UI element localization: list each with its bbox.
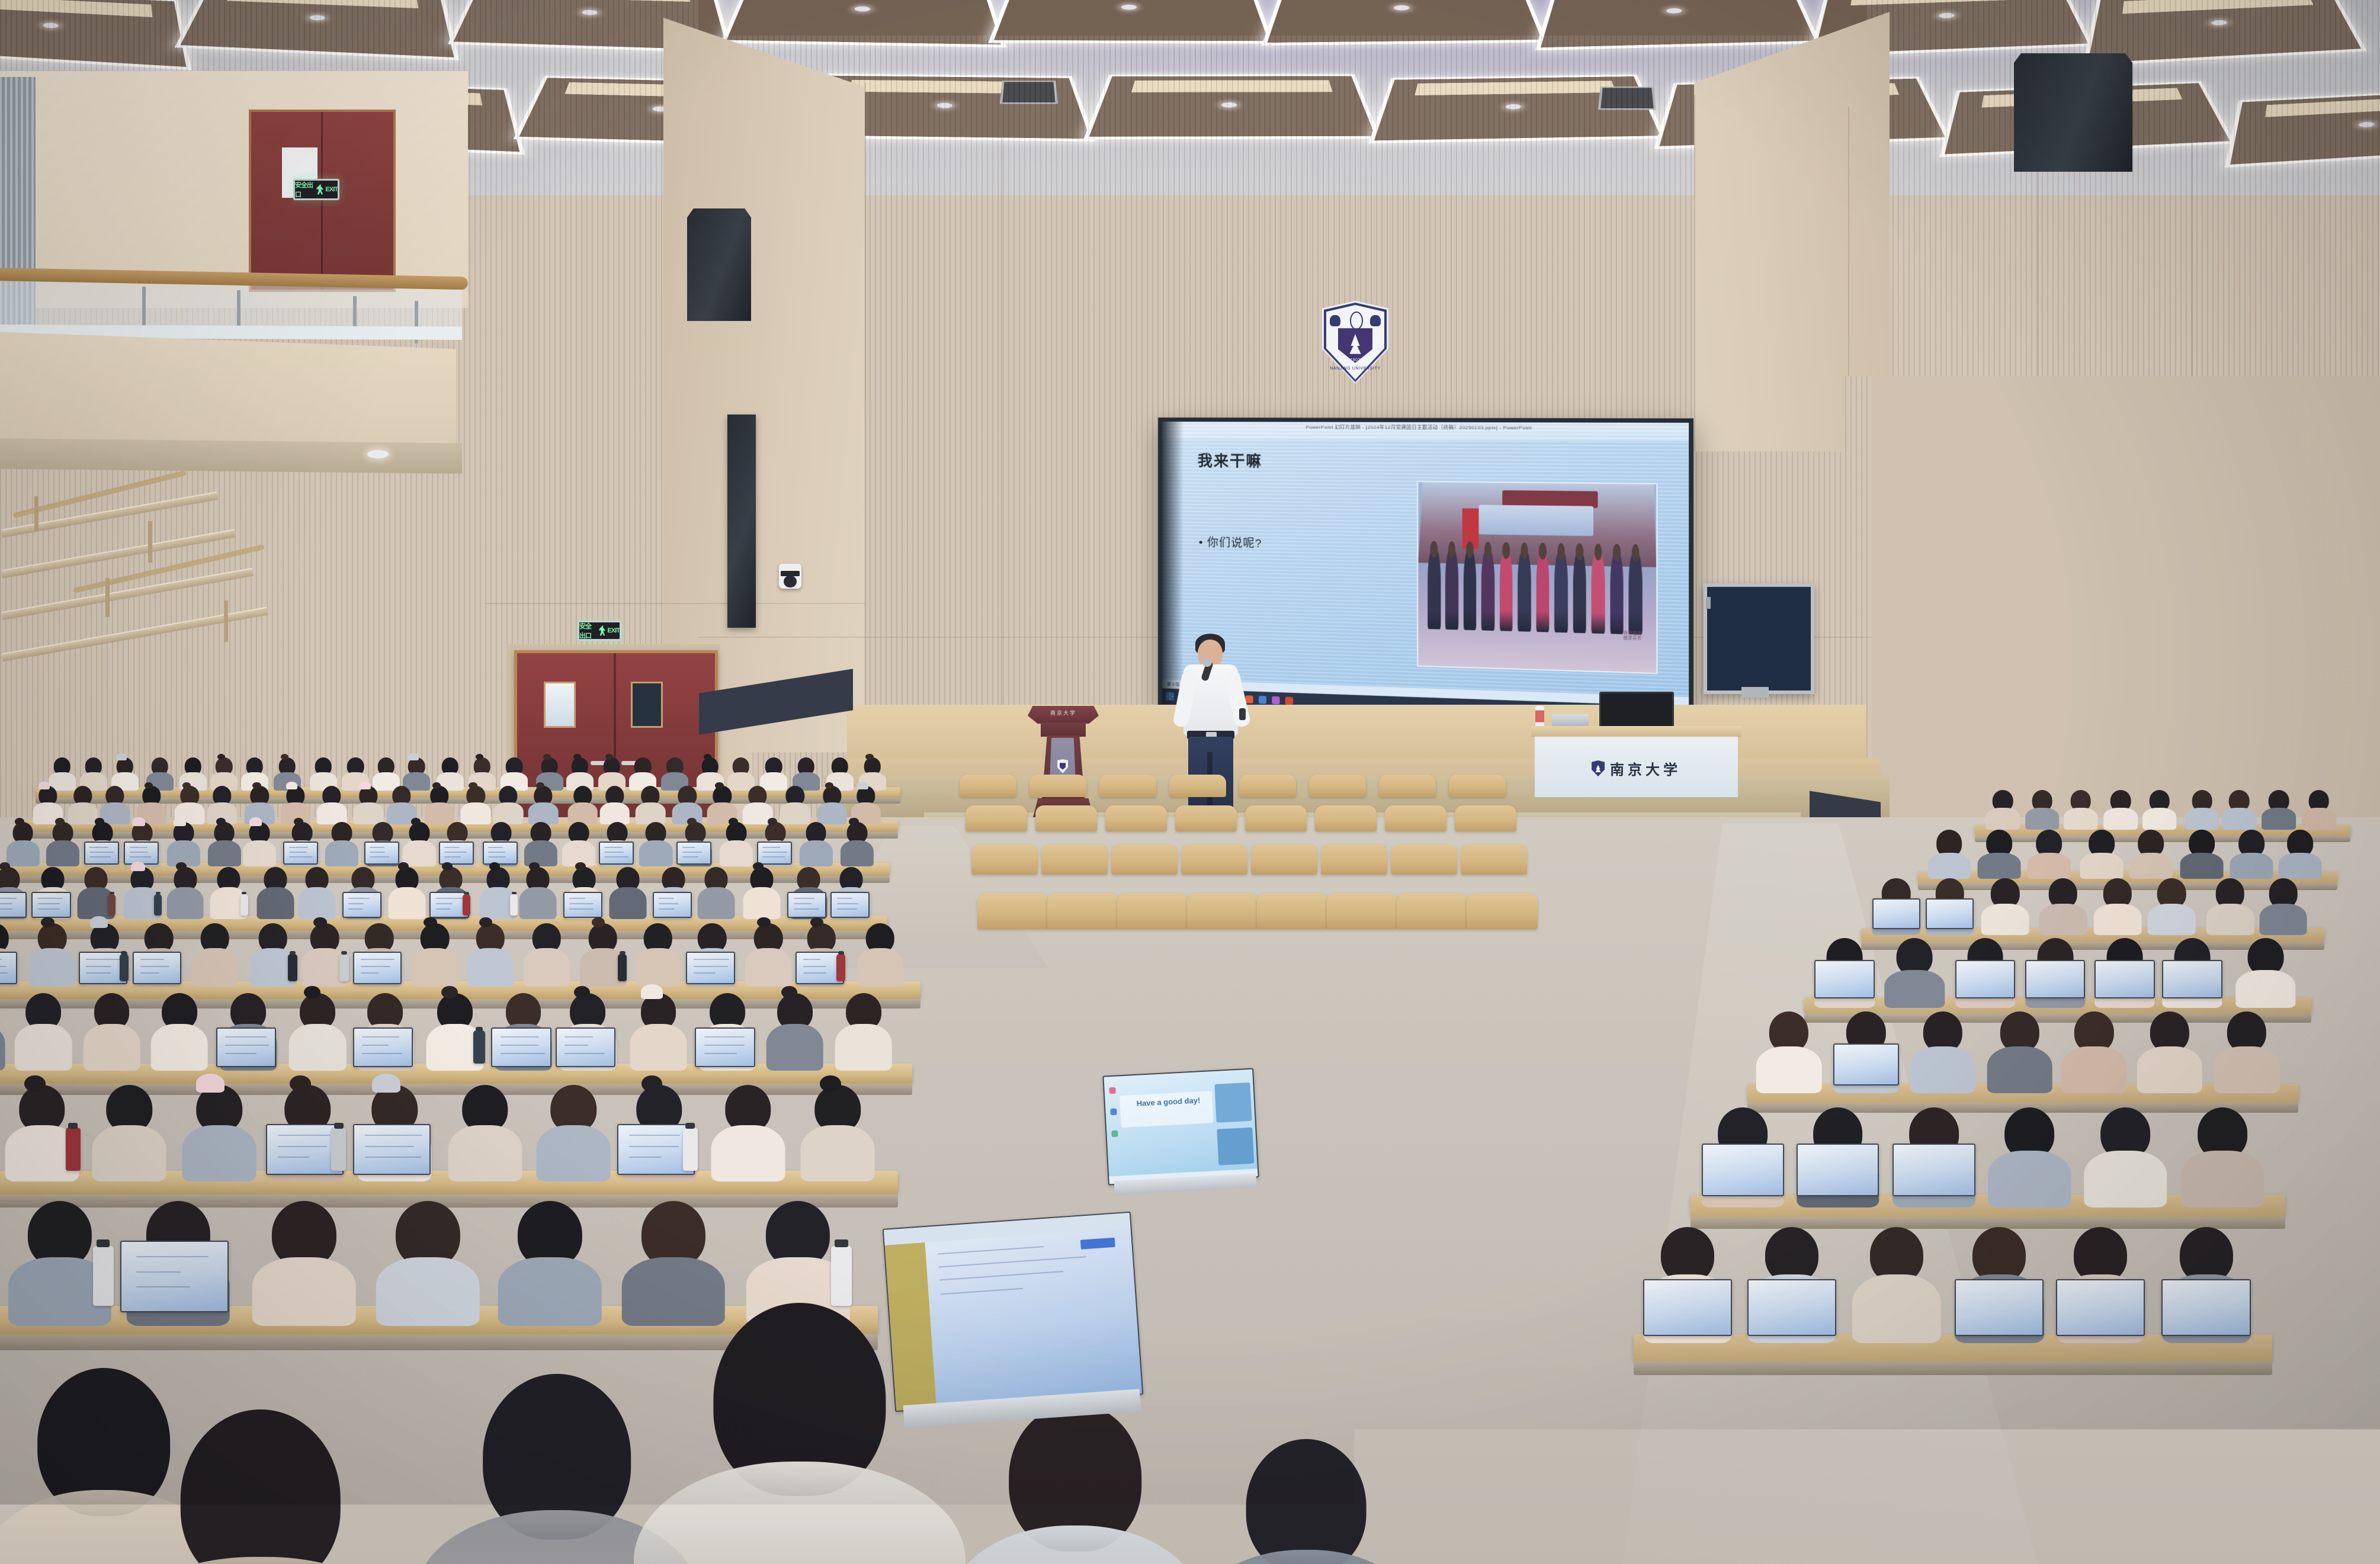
seat-back[interactable] [1047, 893, 1118, 929]
audience-hair-bun [757, 917, 770, 927]
audience-member [697, 757, 724, 783]
audience-torso [2080, 853, 2124, 879]
seat-back[interactable] [1327, 893, 1398, 929]
desktop-icon[interactable] [1109, 1087, 1116, 1094]
seat-back[interactable] [971, 844, 1038, 875]
seat-back[interactable] [1035, 805, 1097, 831]
thermos-bottle[interactable] [463, 894, 470, 916]
audience-member [672, 786, 703, 815]
seat-back[interactable] [1257, 893, 1328, 929]
student-laptop[interactable] [2056, 1279, 2145, 1336]
audience-member [376, 1201, 480, 1295]
audience-member [257, 867, 294, 910]
audience-member [1927, 830, 1971, 865]
cute-wallpaper-laptop[interactable]: Have a good day! [1102, 1068, 1259, 1185]
bottle-cap [464, 892, 469, 895]
student-laptop[interactable] [483, 842, 518, 865]
seat-back[interactable] [1397, 893, 1468, 929]
control-desk-laptop[interactable] [1552, 714, 1589, 726]
audience-torso [182, 1125, 256, 1182]
audience-member [562, 822, 595, 858]
laptop-screen[interactable] [353, 1027, 413, 1067]
student-laptop[interactable] [787, 892, 826, 918]
audience-hair-bun [41, 917, 54, 927]
student-laptop[interactable] [133, 952, 181, 984]
student-laptop[interactable] [653, 892, 692, 918]
screen-text-line [89, 856, 111, 858]
control-desk-top [1531, 726, 1741, 737]
screen-text-line [444, 847, 460, 848]
audience-torso [567, 802, 598, 824]
security-camera-left [779, 564, 801, 589]
screen-text-line [140, 966, 169, 967]
screen-text-line [501, 1045, 539, 1046]
side-display-monitor [1704, 583, 1814, 694]
audience-torso [166, 887, 204, 919]
audience-torso [1852, 1274, 1941, 1343]
screen-text-line [0, 898, 17, 899]
lectern-neck [1041, 722, 1086, 737]
laptop-screen[interactable] [563, 892, 602, 918]
laptop-screen[interactable] [1814, 960, 1874, 998]
seat-back[interactable] [1117, 893, 1188, 929]
laptop-screen[interactable] [1872, 898, 1920, 929]
audience-member [469, 757, 496, 783]
audience-torso [354, 802, 384, 824]
balcony-door[interactable] [249, 110, 396, 292]
laptop-screen[interactable] [2025, 960, 2085, 998]
student-laptop[interactable] [283, 842, 318, 865]
screen-text-line [289, 852, 307, 853]
audience-torso [403, 840, 436, 866]
screen-text-line [444, 856, 461, 858]
seat-back[interactable] [977, 893, 1048, 929]
audience-torso [192, 948, 238, 986]
screen-text-line [225, 1045, 269, 1046]
laptop-screen[interactable] [1926, 898, 1974, 929]
screen-text-line [501, 1053, 545, 1054]
student-laptop[interactable] [1833, 1043, 1899, 1086]
audience-torso [150, 1024, 208, 1071]
audience-member [634, 923, 681, 975]
screen-text-line [762, 847, 780, 848]
seat-back[interactable] [1175, 805, 1237, 831]
audience-torso [289, 1024, 347, 1071]
laptop-screen[interactable] [787, 892, 826, 918]
thermos-bottle[interactable] [66, 1128, 81, 1170]
audience-torso [1986, 808, 2020, 830]
seat-back[interactable] [1041, 844, 1108, 875]
thermos-bottle[interactable] [618, 954, 627, 981]
thermos-bottle[interactable] [120, 954, 129, 981]
laptop-screen[interactable] [1702, 1144, 1785, 1196]
wall-speaker-right [2014, 53, 2132, 172]
student-torso [948, 1526, 1202, 1564]
student-laptop[interactable] [353, 1027, 413, 1067]
audience-member [2302, 790, 2336, 820]
laptop-screen[interactable] [1747, 1279, 1836, 1336]
photo-graduate-head [1484, 542, 1491, 558]
seat-back[interactable] [1111, 844, 1178, 875]
audience-torso [6, 840, 39, 866]
presentation-clicker[interactable] [1239, 708, 1246, 720]
taskbar-app-icon[interactable] [1272, 696, 1279, 704]
exit-sign-left-label: 安全出口 [295, 180, 315, 199]
seat-back[interactable] [1239, 775, 1296, 797]
student-laptop[interactable] [1797, 1144, 1879, 1196]
audience-hair-bun [849, 818, 858, 826]
seat-back[interactable] [1309, 775, 1366, 797]
audience-member [111, 757, 139, 783]
audience-member [448, 1085, 522, 1162]
security-camera-right [1977, 521, 2006, 553]
audience-member [33, 786, 63, 815]
thermos-bottle[interactable] [93, 1246, 114, 1306]
seat-back[interactable] [1385, 805, 1446, 831]
seat-back[interactable] [1245, 805, 1307, 831]
desktop-icon[interactable] [1110, 1109, 1117, 1116]
seat-back[interactable] [1315, 805, 1377, 831]
thermos-bottle[interactable] [288, 954, 297, 981]
laptop-screen[interactable] [686, 952, 734, 984]
exit-sign-balcony: 安全出口 EXIT [293, 179, 339, 200]
front-center-laptop[interactable] [883, 1212, 1144, 1412]
audience-cap [90, 916, 108, 928]
seat-back[interactable] [1181, 844, 1247, 875]
audience-hair-bun [304, 986, 320, 999]
student-laptop[interactable] [2094, 960, 2154, 998]
student-laptop[interactable] [676, 842, 711, 865]
audience-member [92, 1085, 166, 1162]
audience-member [6, 822, 39, 858]
screen-text-line [370, 856, 389, 858]
audience-torso [711, 1125, 785, 1182]
door-window [2129, 685, 2159, 728]
seat-back[interactable] [1251, 844, 1317, 875]
audience-torso [524, 948, 570, 986]
laptop-screen[interactable] [883, 1212, 1144, 1412]
student-laptop[interactable] [84, 842, 119, 865]
audience-member [661, 757, 688, 783]
student-laptop[interactable] [563, 892, 602, 918]
laptop-screen[interactable] [1893, 1144, 1975, 1196]
laptop-screen[interactable] [1797, 1144, 1879, 1196]
laptop-screen[interactable] [1955, 1279, 2044, 1336]
audience-member [437, 757, 464, 783]
audience-torso [2302, 808, 2336, 830]
student-laptop[interactable] [1955, 1279, 2044, 1336]
thermos-bottle[interactable] [108, 894, 116, 916]
lectern-top: 南京大学 [1028, 706, 1099, 724]
lectern-label: 南京大学 [1028, 709, 1099, 717]
screen-text-line [488, 852, 505, 853]
screen-text-line [694, 966, 728, 967]
laptop-screen[interactable] [120, 1241, 229, 1312]
student-laptop[interactable] [1814, 960, 1874, 998]
audience-torso [2222, 808, 2256, 830]
student-laptop[interactable] [695, 1027, 755, 1067]
laptop-screen[interactable] [364, 842, 399, 865]
audience-hair-bun [641, 1075, 663, 1092]
screen-text-line [682, 856, 698, 858]
seat-back[interactable] [1187, 893, 1258, 929]
laptop-screen[interactable] [133, 952, 181, 984]
photo-graduate-head [1503, 542, 1510, 559]
doc-button[interactable] [1080, 1238, 1115, 1250]
student-laptop[interactable] [342, 892, 381, 918]
student-laptop[interactable] [2025, 960, 2085, 998]
audience-hair-bun [432, 782, 441, 789]
thermos-bottle[interactable] [331, 1128, 346, 1170]
student-laptop[interactable] [0, 952, 17, 984]
student-laptop[interactable] [599, 842, 634, 865]
student-laptop[interactable] [830, 892, 870, 918]
student-laptop[interactable] [353, 1124, 431, 1176]
bottle-cap [685, 1123, 695, 1128]
screen-text-line [629, 1157, 662, 1158]
wall-speaker-left [687, 208, 751, 321]
student-laptop[interactable] [439, 842, 474, 865]
audience-torso [1987, 1046, 2052, 1093]
audience-member [325, 822, 358, 858]
audience-member [1988, 1107, 2071, 1184]
student-laptop[interactable] [2161, 1279, 2250, 1336]
student-laptop[interactable] [556, 1027, 615, 1067]
seat-back[interactable] [1455, 805, 1516, 831]
seat-back[interactable] [1461, 844, 1527, 875]
doc-line [939, 1271, 1064, 1281]
laptop-screen[interactable] [830, 892, 870, 918]
bottle-cap [242, 892, 246, 895]
bottle-cap [341, 951, 347, 955]
microphone-head-icon [1202, 657, 1212, 667]
audience-member [289, 993, 347, 1057]
ceiling-downlight [1394, 5, 1409, 11]
seat-back[interactable] [1391, 844, 1457, 875]
audience-torso [92, 1125, 166, 1182]
laptop-screen[interactable] [2162, 960, 2222, 998]
student-laptop[interactable] [124, 842, 159, 865]
screen-text-line [604, 852, 624, 853]
thermos-bottle[interactable] [240, 894, 248, 916]
seat-back[interactable] [1467, 893, 1538, 929]
laptop-screen[interactable] [1643, 1279, 1732, 1336]
student-laptop[interactable] [353, 952, 402, 984]
exit-sign-right-label: EXIT [326, 186, 338, 193]
screen-text-line [604, 847, 623, 848]
desktop-icon[interactable] [1111, 1130, 1118, 1137]
slide-bullet: • 你们说呢? [1199, 534, 1262, 551]
stair-step [1, 492, 219, 538]
laptop-screen[interactable] [0, 892, 27, 918]
taskbar-powerpoint-icon[interactable] [1285, 696, 1293, 705]
screen-text-line [348, 898, 370, 899]
laptop-screen[interactable] [599, 842, 634, 865]
thermos-bottle[interactable] [683, 1128, 698, 1170]
audience-member [2148, 878, 2196, 921]
screen-text-line [278, 1135, 331, 1136]
screen-text-line [694, 972, 716, 974]
laptop-screen[interactable] [283, 842, 318, 865]
audience-hair-bun [252, 782, 261, 789]
audience-hair-bun [729, 818, 738, 826]
audience-torso [2027, 853, 2070, 879]
audience-cap [196, 1074, 224, 1093]
audience-member [146, 757, 174, 783]
seat-back[interactable] [1321, 844, 1387, 875]
lecture-hall-photo: 安全出口 EXIT 安全出口 EXIT [0, 0, 2380, 1564]
running-person-icon [316, 184, 324, 195]
thermos-bottle[interactable] [510, 894, 518, 916]
audience-torso [29, 948, 75, 986]
audience-member [310, 757, 337, 783]
audience-member [2137, 1011, 2203, 1075]
laptop-screen[interactable] [0, 952, 17, 984]
bottle-cap [512, 892, 517, 895]
screen-text-line [365, 1157, 422, 1158]
screen-text-line [370, 847, 384, 848]
thermos-bottle[interactable] [836, 954, 846, 981]
audience-member [780, 786, 810, 815]
audience-member [630, 993, 687, 1057]
student-laptop[interactable] [491, 1027, 551, 1067]
audience-member [2061, 1011, 2127, 1075]
bottle-cap [290, 951, 296, 955]
student-laptop[interactable] [120, 1241, 229, 1312]
student-laptop[interactable] [686, 952, 734, 984]
screen-text-line [0, 959, 2, 960]
student-laptop[interactable] [1893, 1144, 1975, 1196]
laptop-screen[interactable] [491, 1027, 551, 1067]
student-laptop[interactable] [757, 842, 792, 865]
thermos-bottle[interactable] [473, 1030, 485, 1064]
seat-back[interactable] [960, 775, 1016, 797]
audience-hair-bun [469, 782, 477, 789]
seat-back[interactable] [1449, 775, 1506, 797]
laptop-screen[interactable] [342, 892, 381, 918]
audience-torso [252, 1257, 356, 1326]
audience-member [621, 1201, 725, 1295]
audience-member [403, 822, 436, 858]
audience-member [100, 786, 130, 815]
student-laptop[interactable] [1747, 1279, 1836, 1336]
laptop-screen[interactable] [216, 1027, 276, 1067]
audience-member [857, 923, 903, 975]
student-laptop[interactable] [2162, 960, 2222, 998]
seat-back[interactable] [1099, 775, 1156, 797]
audience-member [68, 786, 98, 815]
stair-rail-post [224, 600, 228, 642]
student-laptop[interactable] [364, 842, 399, 865]
laptop-screen[interactable] [353, 952, 402, 984]
audience-member [698, 867, 735, 910]
audience-member [49, 757, 76, 783]
wall-seam [486, 603, 865, 604]
screen-text-line [837, 903, 858, 904]
audience-torso [46, 840, 79, 866]
screen-text-line [604, 856, 628, 858]
door-handle[interactable] [2261, 761, 2281, 765]
audience-torso [610, 887, 647, 919]
audience-member [342, 757, 369, 783]
laptop-screen[interactable] [84, 842, 119, 865]
audience-member [166, 867, 204, 910]
student-laptop[interactable] [1955, 960, 2015, 998]
laptop-screen[interactable] [124, 842, 159, 865]
stair-step [1, 607, 268, 662]
screen-text-line [86, 959, 120, 960]
screen-text-line [682, 852, 702, 853]
seat-back[interactable] [1029, 775, 1086, 797]
screen-text-line [564, 1045, 588, 1046]
seat-back[interactable] [1105, 805, 1167, 831]
thermos-bottle[interactable] [154, 894, 162, 916]
audience-torso [325, 840, 358, 866]
laptop-screen[interactable] [757, 842, 792, 865]
audience-torso [299, 887, 336, 919]
water-bottle[interactable] [1535, 706, 1544, 728]
audience-torso [100, 802, 130, 824]
student-laptop[interactable] [1643, 1279, 1732, 1336]
laptop-screen[interactable] [2056, 1279, 2145, 1336]
audience-cap [286, 782, 297, 789]
audience-member [501, 757, 528, 783]
laptop-screen[interactable] [2094, 960, 2154, 998]
stair-handrail[interactable] [12, 470, 186, 518]
laptop-screen[interactable]: Have a good day! [1102, 1068, 1259, 1185]
laptop-screen[interactable] [439, 842, 474, 865]
screen-text-line [130, 852, 149, 853]
bottle-cap [838, 951, 844, 955]
student-laptop[interactable] [216, 1027, 276, 1067]
audience-member [835, 993, 893, 1057]
audience-member [2279, 830, 2322, 865]
taskbar-app-icon[interactable] [1259, 695, 1266, 704]
soffit-downlight [367, 450, 389, 458]
photo-graduate-head [1595, 544, 1602, 560]
audience-member [1978, 830, 2021, 865]
laptop-screen[interactable] [1833, 1043, 1899, 1086]
seat-back[interactable] [966, 805, 1027, 831]
laptop-screen[interactable] [2161, 1279, 2250, 1336]
laptop-screen[interactable] [483, 842, 518, 865]
laptop-screen[interactable] [676, 842, 711, 865]
screen-text-line [136, 1271, 181, 1273]
thermos-bottle[interactable] [831, 1246, 852, 1306]
audience-member [826, 757, 854, 783]
laptop-screen[interactable] [1955, 960, 2015, 998]
student-laptop[interactable] [1872, 898, 1920, 929]
student-laptop[interactable] [1926, 898, 1974, 929]
laptop-screen[interactable] [353, 1124, 431, 1176]
student-laptop[interactable] [1702, 1144, 1785, 1196]
seat-back[interactable] [1169, 775, 1226, 797]
seat-back[interactable] [1379, 775, 1436, 797]
laptop-screen[interactable] [653, 892, 692, 918]
student-laptop[interactable] [31, 892, 70, 918]
thermos-bottle[interactable] [339, 954, 349, 981]
laptop-screen[interactable] [695, 1027, 755, 1067]
audience-torso [630, 1024, 687, 1071]
laptop-screen[interactable] [31, 892, 70, 918]
taskbar-app-icons[interactable] [1245, 695, 1293, 705]
ceiling-downlight [855, 6, 871, 11]
student-laptop[interactable] [0, 892, 27, 918]
screen-text-line [89, 847, 108, 848]
ceiling-downlight [1666, 8, 1682, 13]
laptop-screen[interactable] [556, 1027, 615, 1067]
audience-member [2084, 1107, 2167, 1184]
